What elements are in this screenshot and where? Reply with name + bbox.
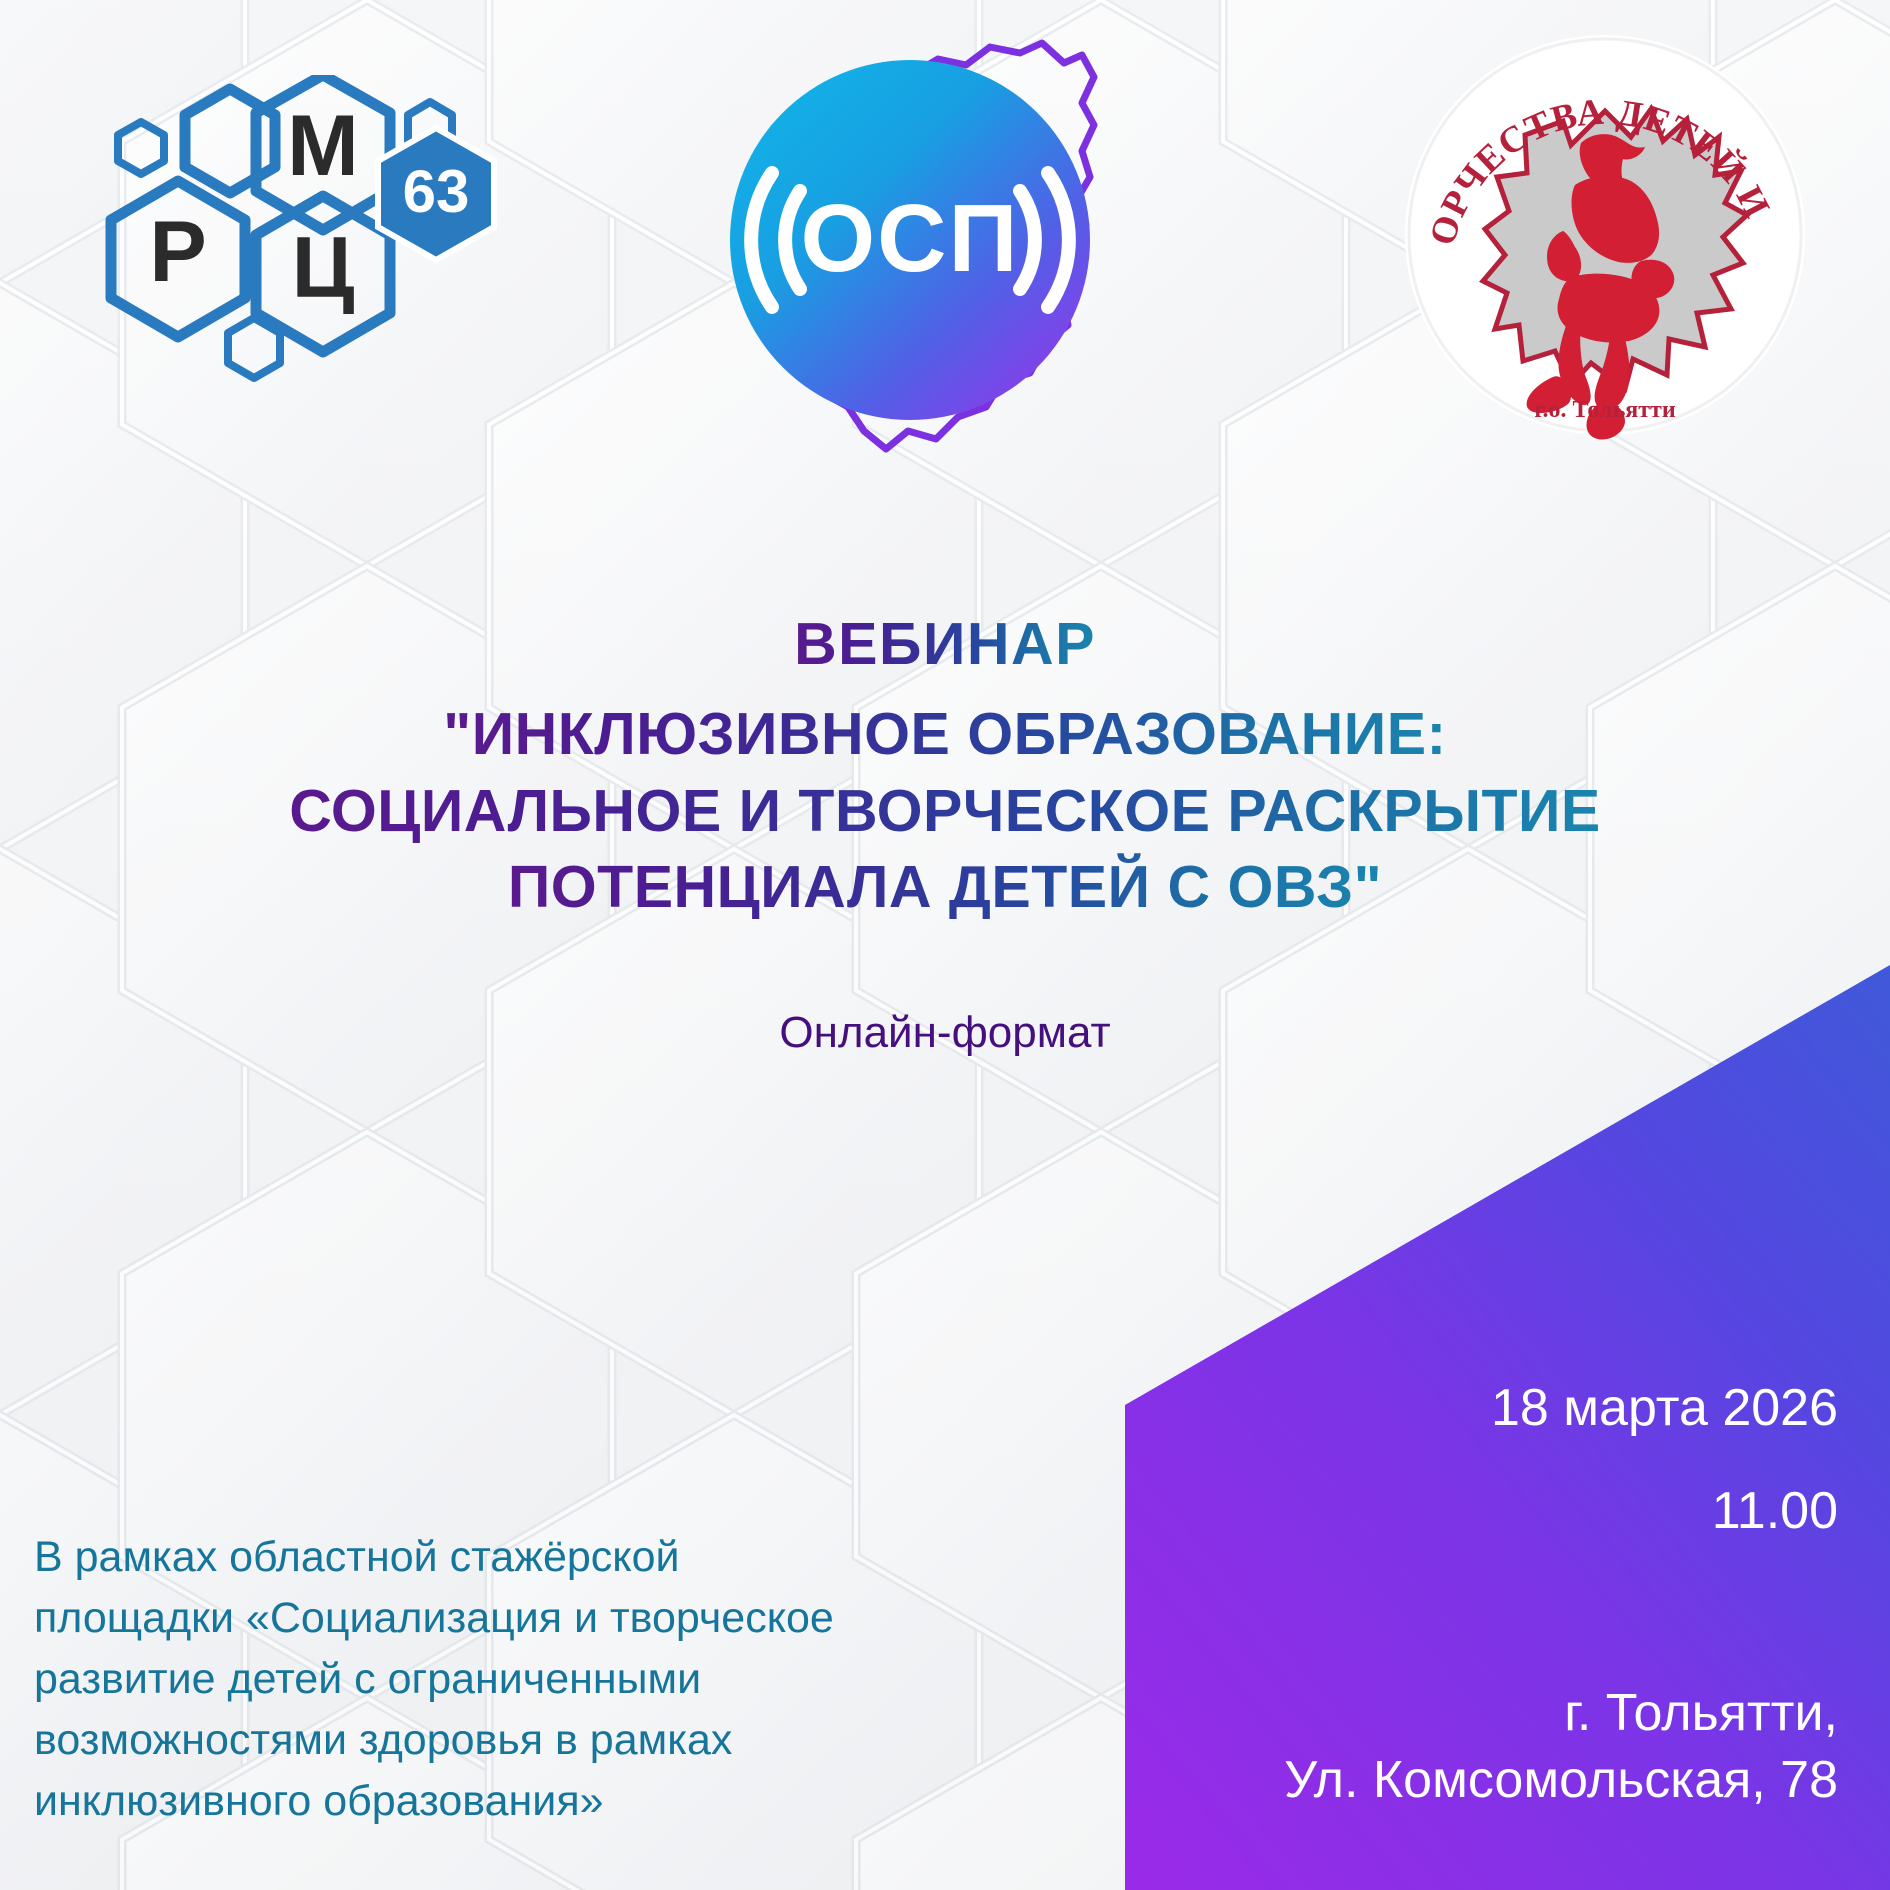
description-line: инклюзивного образования» — [34, 1771, 1094, 1832]
description-block: В рамках областной стажёрской площадки «… — [34, 1527, 1094, 1832]
rmc-letter-ts: Ц — [292, 220, 355, 316]
osp-logo: ОСП — [690, 25, 1130, 475]
rmc-letter-m: М — [287, 98, 359, 194]
title-line-3: ПОТЕНЦИАЛА ДЕТЕЙ С ОВЗ" — [508, 849, 1382, 926]
event-date: 18 марта 2026 — [1078, 1380, 1838, 1437]
description-line: В рамках областной стажёрской — [34, 1527, 1094, 1588]
title-line-1: "ИНКЛЮЗИВНОЕ ОБРАЗОВАНИЕ: — [443, 696, 1446, 773]
rmc63-logo: 63 Р М Ц — [78, 75, 518, 385]
event-address: г. Тольятти, Ул. Комсомольская, 78 — [1078, 1680, 1838, 1813]
address-line-city: г. Тольятти, — [1078, 1680, 1838, 1747]
logo-row: 63 Р М Ц — [0, 0, 1890, 470]
dtdm-logo: ДВОРЕЦ ТВОРЧЕСТВА ДЕТЕЙ И МОЛОДЁЖИ г.о. … — [1395, 25, 1815, 445]
description-line: возможностями здоровья в рамках — [34, 1710, 1094, 1771]
webinar-poster: 63 Р М Ц — [0, 0, 1890, 1890]
title-block: ВЕБИНАР "ИНКЛЮЗИВНОЕ ОБРАЗОВАНИЕ: СОЦИАЛ… — [0, 615, 1890, 926]
event-info-block: 18 марта 2026 11.00 г. Тольятти, Ул. Ком… — [1078, 1380, 1838, 1813]
event-time: 11.00 — [1078, 1483, 1838, 1540]
osp-label: ОСП — [801, 185, 1020, 292]
rmc-letter-r: Р — [149, 204, 206, 300]
webinar-title: "ИНКЛЮЗИВНОЕ ОБРАЗОВАНИЕ: СОЦИАЛЬНОЕ И Т… — [0, 696, 1890, 926]
address-line-street: Ул. Комсомольская, 78 — [1078, 1747, 1838, 1814]
seal-city-label: г.о. Тольятти — [1534, 397, 1676, 423]
description-line: площадки «Социализация и творческое — [34, 1588, 1094, 1649]
badge-63-label: 63 — [403, 158, 470, 225]
webinar-kicker: ВЕБИНАР — [794, 615, 1096, 674]
title-line-2: СОЦИАЛЬНОЕ И ТВОРЧЕСКОЕ РАСКРЫТИЕ — [289, 773, 1601, 850]
description-line: развитие детей с ограниченными — [34, 1649, 1094, 1710]
format-label: Онлайн-формат — [0, 1008, 1890, 1058]
